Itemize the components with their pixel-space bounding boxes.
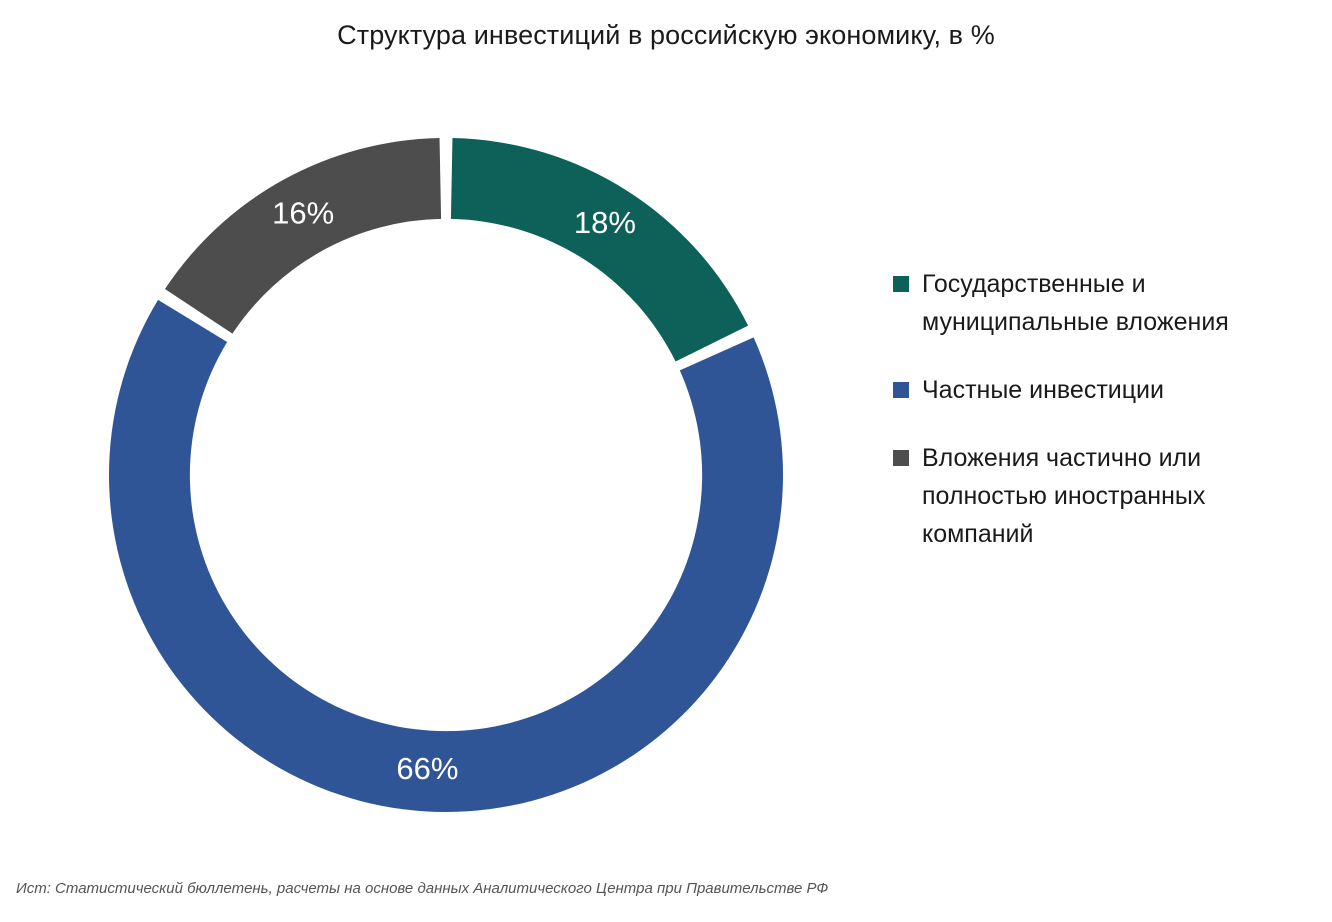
donut-slices [109, 138, 783, 812]
donut-slice[interactable] [165, 138, 441, 334]
donut-slice[interactable] [451, 138, 748, 361]
source-note: Ист: Статистический бюллетень, расчеты н… [16, 880, 828, 897]
legend-item-label: Вложения частично или полностью иностран… [922, 439, 1205, 553]
legend-swatch-icon [893, 450, 909, 466]
chart-title: Структура инвестиций в российскую эконом… [0, 20, 1332, 51]
donut-chart: 18%66%16% [78, 107, 814, 843]
slice-data-label: 16% [272, 195, 334, 230]
donut-chart-svg: 18%66%16% [78, 107, 814, 843]
legend-swatch-icon [893, 382, 909, 398]
slice-data-label: 18% [574, 205, 636, 240]
legend-item-label: Частные инвестиции [922, 371, 1164, 409]
legend-item-private[interactable]: Частные инвестиции [893, 371, 1323, 409]
donut-slice[interactable] [109, 300, 783, 812]
legend-item-label: Государственные и муниципальные вложения [922, 265, 1229, 341]
slice-data-label: 66% [396, 751, 458, 786]
legend-item-foreign[interactable]: Вложения частично или полностью иностран… [893, 439, 1323, 553]
legend-item-government[interactable]: Государственные и муниципальные вложения [893, 265, 1323, 341]
chart-legend: Государственные и муниципальные вложения… [893, 265, 1323, 583]
legend-swatch-icon [893, 276, 909, 292]
